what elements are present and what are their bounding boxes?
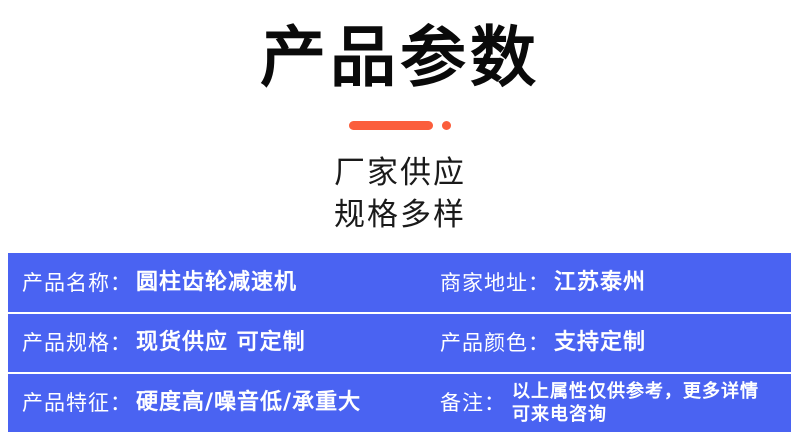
spec-value: 现货供应 可定制 [136,330,306,356]
spec-cell-product-specification: 产品规格： 现货供应 可定制 [8,314,424,372]
spec-value: 硬度高/噪音低/承重大 [136,390,361,416]
spec-cell-product-color: 产品颜色： 支持定制 [424,314,791,372]
divider-bar-icon [349,121,433,130]
spec-value: 江苏泰州 [554,270,646,296]
spec-value: 支持定制 [554,330,646,356]
spec-value-line-1: 以上属性仅供参考，更多详情 [512,380,759,403]
subtitle: 厂家供应 规格多样 [0,152,800,236]
header-section: 产品参数 厂家供应 规格多样 [0,0,800,250]
subtitle-line-2: 规格多样 [0,194,800,236]
spec-label: 商家地址： [440,270,550,296]
spec-cell-merchant-address: 商家地址： 江苏泰州 [424,253,791,312]
divider-dot-icon [442,121,451,130]
table-row: 产品特征： 硬度高/噪音低/承重大 备注： 以上属性仅供参考，更多详情 可来电咨… [8,372,791,432]
spec-cell-remarks: 备注： 以上属性仅供参考，更多详情 可来电咨询 [424,374,791,432]
spec-label: 备注： [440,390,506,416]
title-divider [0,119,800,131]
spec-cell-product-features: 产品特征： 硬度高/噪音低/承重大 [8,374,424,432]
spec-value: 以上属性仅供参考，更多详情 可来电咨询 [512,380,759,426]
spec-value: 圆柱齿轮减速机 [136,270,297,296]
product-parameters-page: 产品参数 厂家供应 规格多样 产品名称： 圆柱齿轮减速机 商家地址： 江苏泰州 [0,0,800,440]
table-row: 产品规格： 现货供应 可定制 产品颜色： 支持定制 [8,312,791,372]
page-title: 产品参数 [0,20,800,96]
spec-label: 产品名称： [22,270,132,296]
spec-value-line-2: 可来电咨询 [512,403,759,426]
subtitle-line-1: 厂家供应 [0,152,800,194]
table-row: 产品名称： 圆柱齿轮减速机 商家地址： 江苏泰州 [8,253,791,312]
spec-label: 产品特征： [22,390,132,416]
spec-table: 产品名称： 圆柱齿轮减速机 商家地址： 江苏泰州 产品规格： 现货供应 可定制 … [8,253,791,432]
spec-label: 产品规格： [22,330,132,356]
spec-label: 产品颜色： [440,330,550,356]
spec-cell-product-name: 产品名称： 圆柱齿轮减速机 [8,253,424,312]
